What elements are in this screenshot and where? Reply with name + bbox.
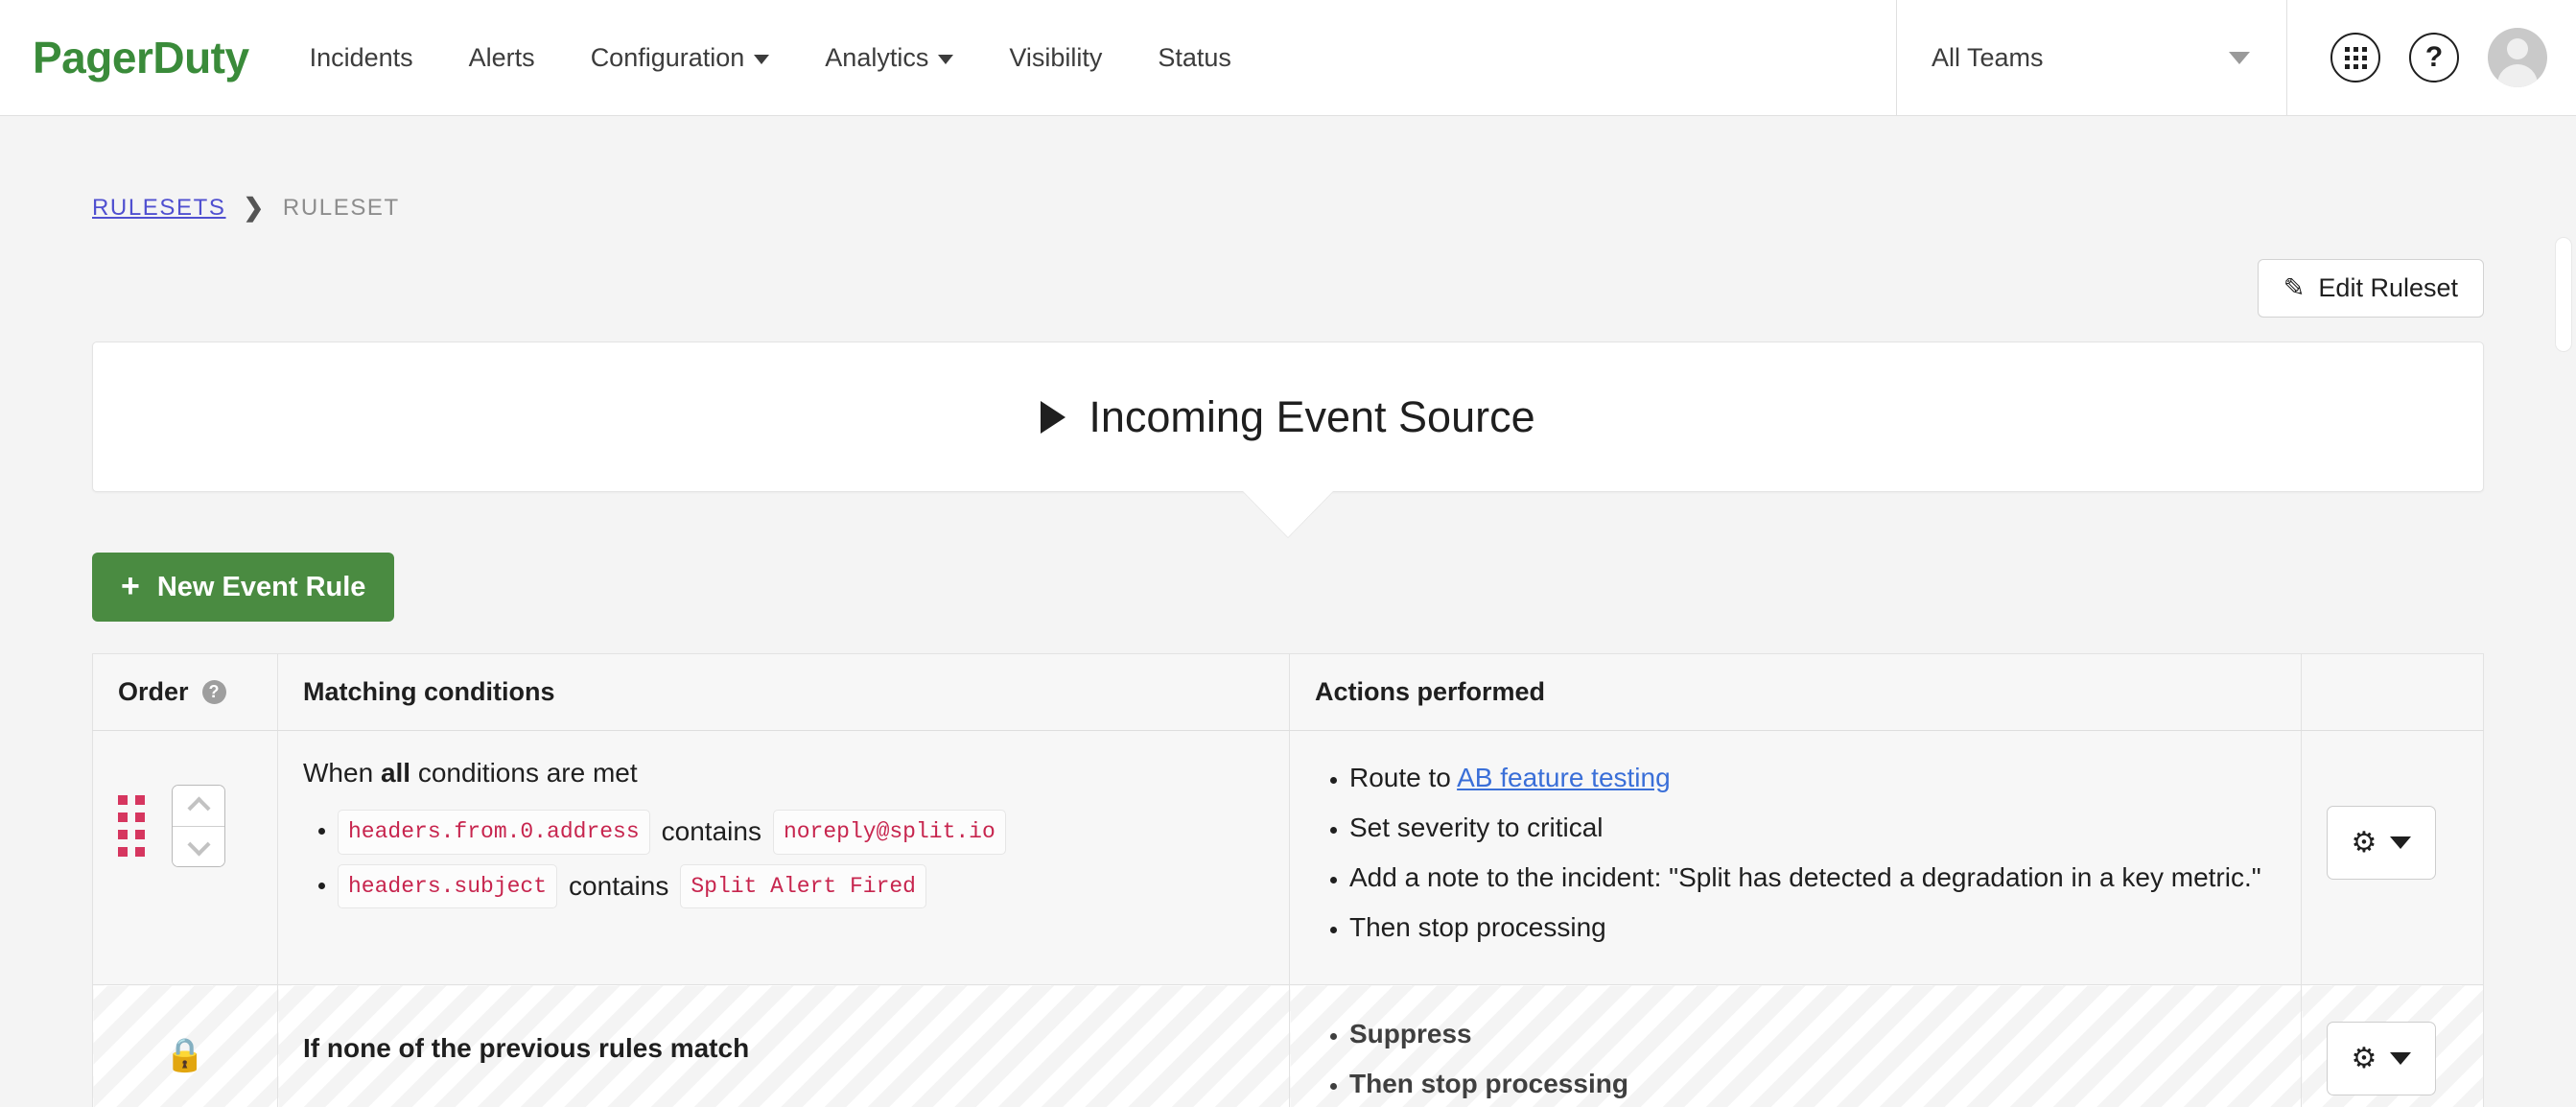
grid-dots-glyph <box>2345 47 2367 69</box>
nav-label-incidents: Incidents <box>310 43 413 73</box>
chevron-down-icon <box>938 55 953 64</box>
catch-all-menu-cell: ⚙ <box>2302 985 2484 1107</box>
order-spinner <box>172 785 225 867</box>
condition-field: headers.subject <box>338 864 557 909</box>
chevron-down-icon <box>754 55 769 64</box>
nav-icon-group: ? <box>2287 0 2576 115</box>
rule-settings-menu-button[interactable]: ⚙ <box>2327 806 2436 880</box>
nav-item-incidents[interactable]: Incidents <box>282 0 441 115</box>
incoming-event-source-panel[interactable]: Incoming Event Source <box>92 342 2484 492</box>
nav-label-status: Status <box>1158 43 1231 73</box>
column-header-order-label: Order <box>118 677 189 707</box>
actions-list: Route to AB feature testing Set severity… <box>1315 758 2276 948</box>
new-event-rule-button[interactable]: + New Event Rule <box>92 553 394 622</box>
list-item: Route to AB feature testing <box>1349 758 2276 798</box>
list-item: Then stop processing <box>1349 1064 2276 1104</box>
catch-all-actions-cell: Suppress Then stop processing <box>1290 985 2302 1107</box>
chevron-up-icon <box>187 796 210 819</box>
nav-label-configuration: Configuration <box>591 43 745 73</box>
list-item: Then stop processing <box>1349 907 2276 948</box>
page-content: RULESETS ❯ RULESET ✎ Edit Ruleset Incomi… <box>0 116 2576 1107</box>
action-text: Route to <box>1349 763 1457 792</box>
move-rule-up-button[interactable] <box>173 786 224 826</box>
page-toolbar: ✎ Edit Ruleset <box>0 223 2576 318</box>
question-mark-icon[interactable]: ? <box>2409 33 2459 82</box>
table-header: Order ? Matching conditions Actions perf… <box>93 654 2484 731</box>
list-item: Add a note to the incident: "Split has d… <box>1349 858 2276 898</box>
list-item: Suppress <box>1349 1014 2276 1054</box>
nav-label-alerts: Alerts <box>469 43 535 73</box>
pagerduty-logo[interactable]: PagerDuty <box>0 0 282 115</box>
event-rules-table-wrapper: Order ? Matching conditions Actions perf… <box>0 622 2576 1107</box>
table-header-row: Order ? Matching conditions Actions perf… <box>93 654 2484 731</box>
condition-value: noreply@split.io <box>773 810 1006 855</box>
nav-item-configuration[interactable]: Configuration <box>563 0 798 115</box>
edit-ruleset-label: Edit Ruleset <box>2318 273 2458 303</box>
edit-ruleset-button[interactable]: ✎ Edit Ruleset <box>2258 259 2484 318</box>
catch-all-row: 🔒 If none of the previous rules match Su… <box>93 985 2484 1107</box>
caret-down-icon <box>2390 1052 2411 1065</box>
lock-icon: 🔒 <box>165 1037 205 1073</box>
matching-conditions-cell: When all conditions are met headers.from… <box>278 731 1290 985</box>
caret-down-icon <box>2390 836 2411 849</box>
top-navigation-bar: PagerDuty Incidents Alerts Configuration… <box>0 0 2576 116</box>
breadcrumb-current-ruleset: RULESET <box>283 195 400 222</box>
condition-field: headers.from.0.address <box>338 810 650 855</box>
column-header-menu <box>2302 654 2484 731</box>
breadcrumb: RULESETS ❯ RULESET <box>0 116 2576 223</box>
column-header-actions-performed: Actions performed <box>1290 654 2302 731</box>
conditions-list: headers.from.0.address contains noreply@… <box>303 810 1264 908</box>
catch-all-label: If none of the previous rules match <box>278 985 1290 1107</box>
conditions-heading-suffix: conditions are met <box>410 758 638 788</box>
breadcrumb-link-rulesets[interactable]: RULESETS <box>92 195 226 222</box>
event-rules-table: Order ? Matching conditions Actions perf… <box>92 653 2484 1107</box>
action-link-service[interactable]: AB feature testing <box>1457 763 1671 792</box>
chevron-right-icon: ❯ <box>244 193 266 223</box>
drag-handle-icon[interactable] <box>118 795 145 857</box>
list-item: headers.subject contains Split Alert Fir… <box>338 864 1264 909</box>
chevron-down-icon <box>187 833 210 856</box>
order-cell <box>93 731 278 985</box>
row-menu-cell: ⚙ <box>2302 731 2484 985</box>
catch-all-actions-list: Suppress Then stop processing <box>1315 1014 2276 1104</box>
gear-icon: ⚙ <box>2352 829 2377 858</box>
move-rule-down-button[interactable] <box>173 826 224 866</box>
nav-label-visibility: Visibility <box>1009 43 1102 73</box>
list-item: headers.from.0.address contains noreply@… <box>338 810 1264 855</box>
conditions-heading: When all conditions are met <box>303 758 1264 789</box>
triangle-right-icon <box>1041 401 1066 434</box>
panel-pointer-triangle <box>1243 491 1333 537</box>
help-glyph: ? <box>2425 43 2443 72</box>
help-circle-icon[interactable]: ? <box>202 680 226 704</box>
condition-operator: contains <box>662 812 761 852</box>
grid-apps-icon[interactable] <box>2330 33 2380 82</box>
nav-item-visibility[interactable]: Visibility <box>981 0 1130 115</box>
nav-label-analytics: Analytics <box>825 43 928 73</box>
nav-item-analytics[interactable]: Analytics <box>797 0 981 115</box>
team-selector[interactable]: All Teams <box>1896 0 2287 115</box>
team-selector-value: All Teams <box>1932 43 2044 73</box>
gear-icon: ⚙ <box>2352 1045 2377 1073</box>
list-item: Set severity to critical <box>1349 808 2276 848</box>
column-header-matching-conditions: Matching conditions <box>278 654 1290 731</box>
plus-icon: + <box>121 570 140 602</box>
nav-item-status[interactable]: Status <box>1130 0 1259 115</box>
table-row: When all conditions are met headers.from… <box>93 731 2484 985</box>
user-avatar-icon[interactable] <box>2488 28 2547 87</box>
catch-all-lock-cell: 🔒 <box>93 985 278 1107</box>
actions-performed-cell: Route to AB feature testing Set severity… <box>1290 731 2302 985</box>
column-header-order: Order ? <box>93 654 278 731</box>
vertical-scrollbar-thumb[interactable] <box>2555 237 2572 352</box>
primary-nav-links: Incidents Alerts Configuration Analytics… <box>282 0 1896 115</box>
page-title: Incoming Event Source <box>1089 392 1534 442</box>
condition-value: Split Alert Fired <box>680 864 926 909</box>
catch-all-settings-menu-button[interactable]: ⚙ <box>2327 1022 2436 1095</box>
chevron-down-icon <box>2229 52 2250 64</box>
nav-item-alerts[interactable]: Alerts <box>441 0 563 115</box>
table-body: When all conditions are met headers.from… <box>93 731 2484 1107</box>
new-event-rule-label: New Event Rule <box>157 572 366 603</box>
panel-title-row: Incoming Event Source <box>1041 392 1534 442</box>
event-source-panel-wrapper: Incoming Event Source <box>0 318 2576 492</box>
conditions-heading-bold: all <box>381 758 410 788</box>
conditions-heading-prefix: When <box>303 758 381 788</box>
pencil-square-icon: ✎ <box>2283 273 2306 303</box>
condition-operator: contains <box>569 866 668 907</box>
